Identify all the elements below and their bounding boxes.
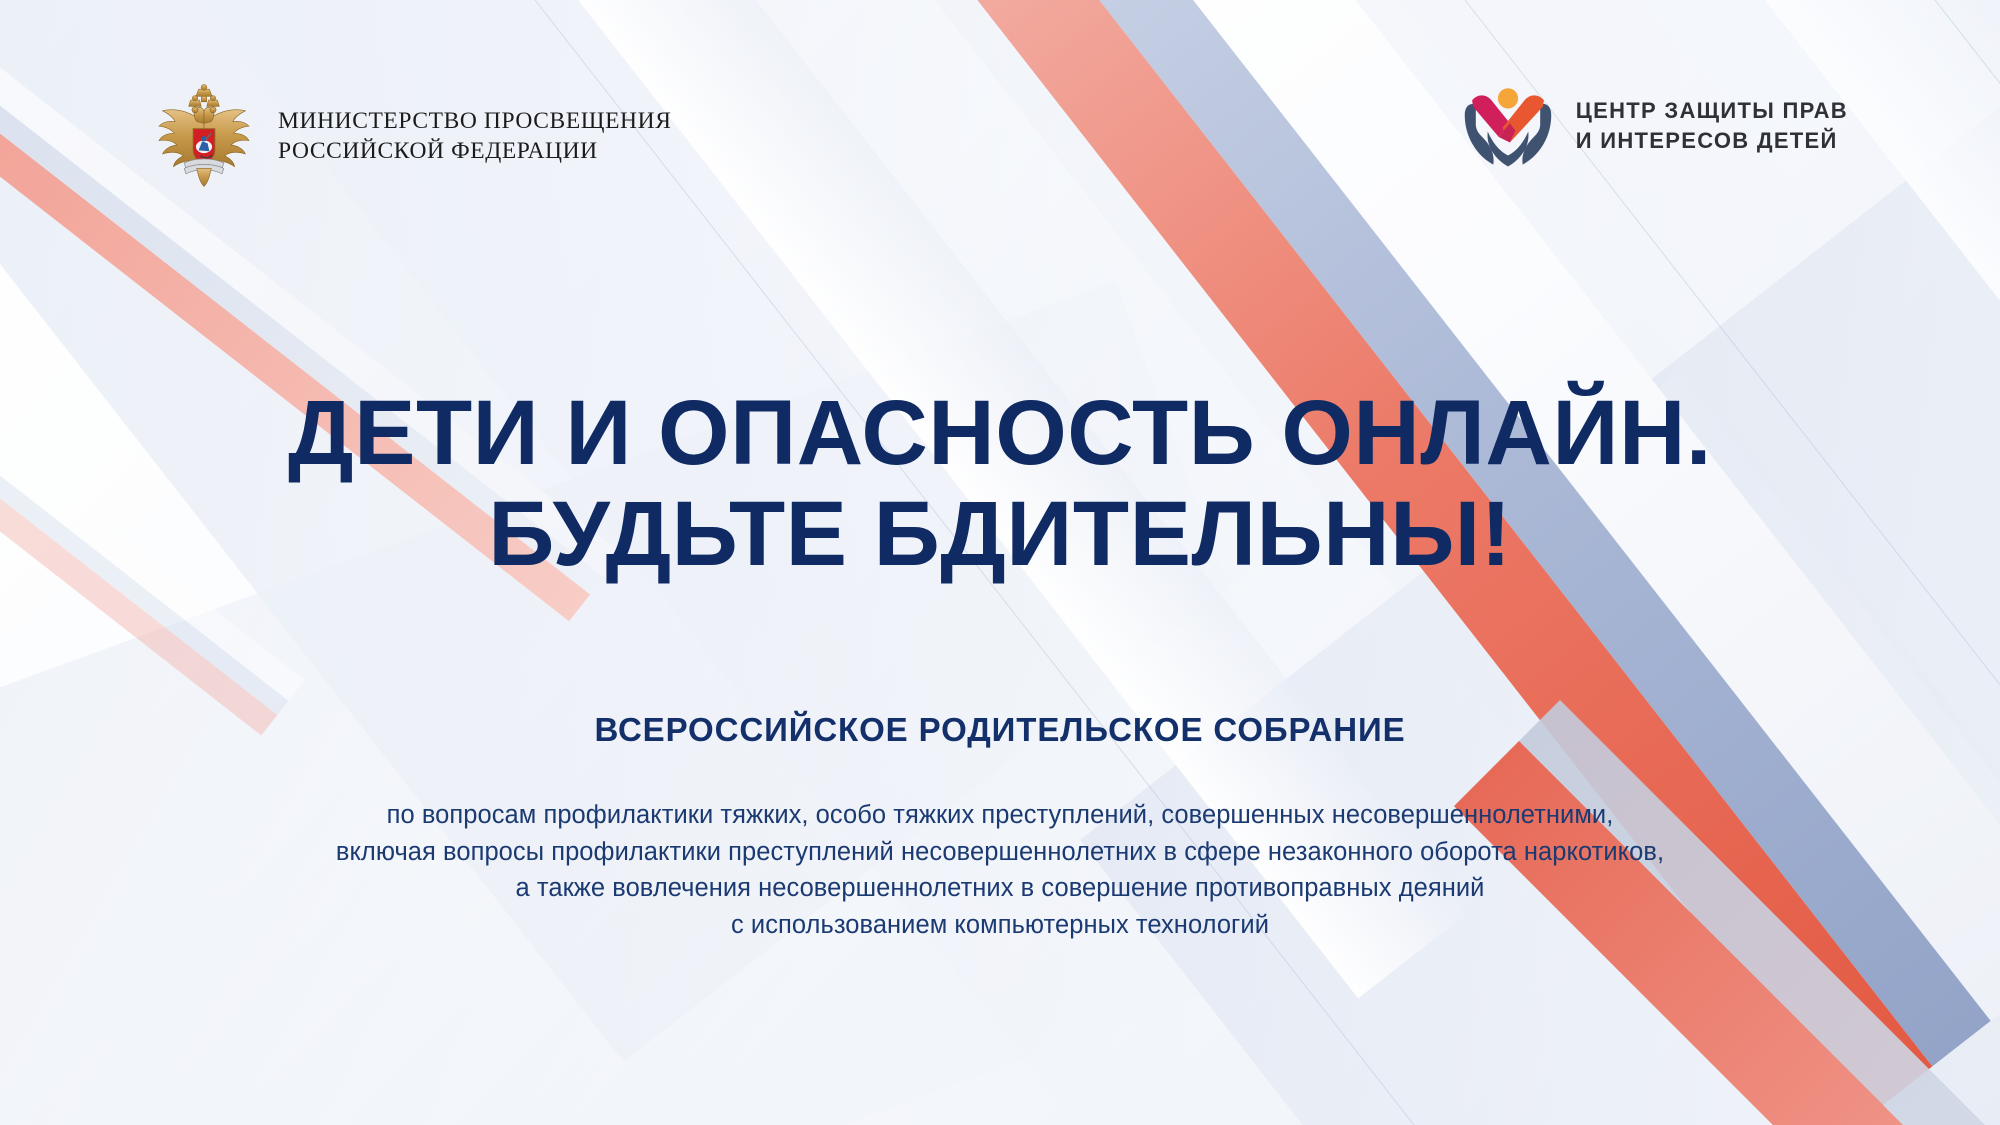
event-description-line2: включая вопросы профилактики преступлени… [0, 834, 2000, 871]
center-logo-text: ЦЕНТР ЗАЩИТЫ ПРАВ И ИНТЕРЕСОВ ДЕТЕЙ [1576, 96, 1848, 155]
ministry-logo-line2: РОССИЙСКОЙ ФЕДЕРАЦИИ [278, 138, 598, 164]
event-description-line3: а также вовлечения несовершеннолетних в … [0, 870, 2000, 907]
event-description-line1: по вопросам профилактики тяжких, особо т… [0, 797, 2000, 834]
event-title: ВСЕРОССИЙСКОЕ РОДИТЕЛЬСКОЕ СОБРАНИЕ [0, 711, 2000, 749]
center-logo-line1: ЦЕНТР ЗАЩИТЫ ПРАВ [1576, 98, 1848, 123]
slide-canvas: МИНИСТЕРСТВО ПРОСВЕЩЕНИЯ РОССИЙСКОЙ ФЕДЕ… [0, 0, 2000, 1125]
ministry-logo-line1: МИНИСТЕРСТВО ПРОСВЕЩЕНИЯ [278, 108, 671, 134]
event-description: по вопросам профилактики тяжких, особо т… [0, 797, 2000, 944]
child-in-hands-logo-icon [1462, 80, 1554, 172]
center-logo: ЦЕНТР ЗАЩИТЫ ПРАВ И ИНТЕРЕСОВ ДЕТЕЙ [1462, 80, 1848, 172]
page-title: ДЕТИ И ОПАСНОСТЬ ОНЛАЙН. БУДЬТЕ БДИТЕЛЬН… [0, 383, 2000, 585]
page-title-line2: БУДЬТЕ БДИТЕЛЬНЫ! [0, 484, 2000, 585]
center-logo-line2: И ИНТЕРЕСОВ ДЕТЕЙ [1576, 128, 1838, 153]
ministry-logo: МИНИСТЕРСТВО ПРОСВЕЩЕНИЯ РОССИЙСКОЙ ФЕДЕ… [150, 82, 671, 190]
page-title-line1: ДЕТИ И ОПАСНОСТЬ ОНЛАЙН. [288, 382, 1712, 484]
russian-double-headed-eagle-emblem-icon [150, 82, 258, 190]
header: МИНИСТЕРСТВО ПРОСВЕЩЕНИЯ РОССИЙСКОЙ ФЕДЕ… [0, 0, 2000, 235]
ministry-logo-text: МИНИСТЕРСТВО ПРОСВЕЩЕНИЯ РОССИЙСКОЙ ФЕДЕ… [278, 106, 671, 166]
event-description-line4: с использованием компьютерных технологий [0, 907, 2000, 944]
